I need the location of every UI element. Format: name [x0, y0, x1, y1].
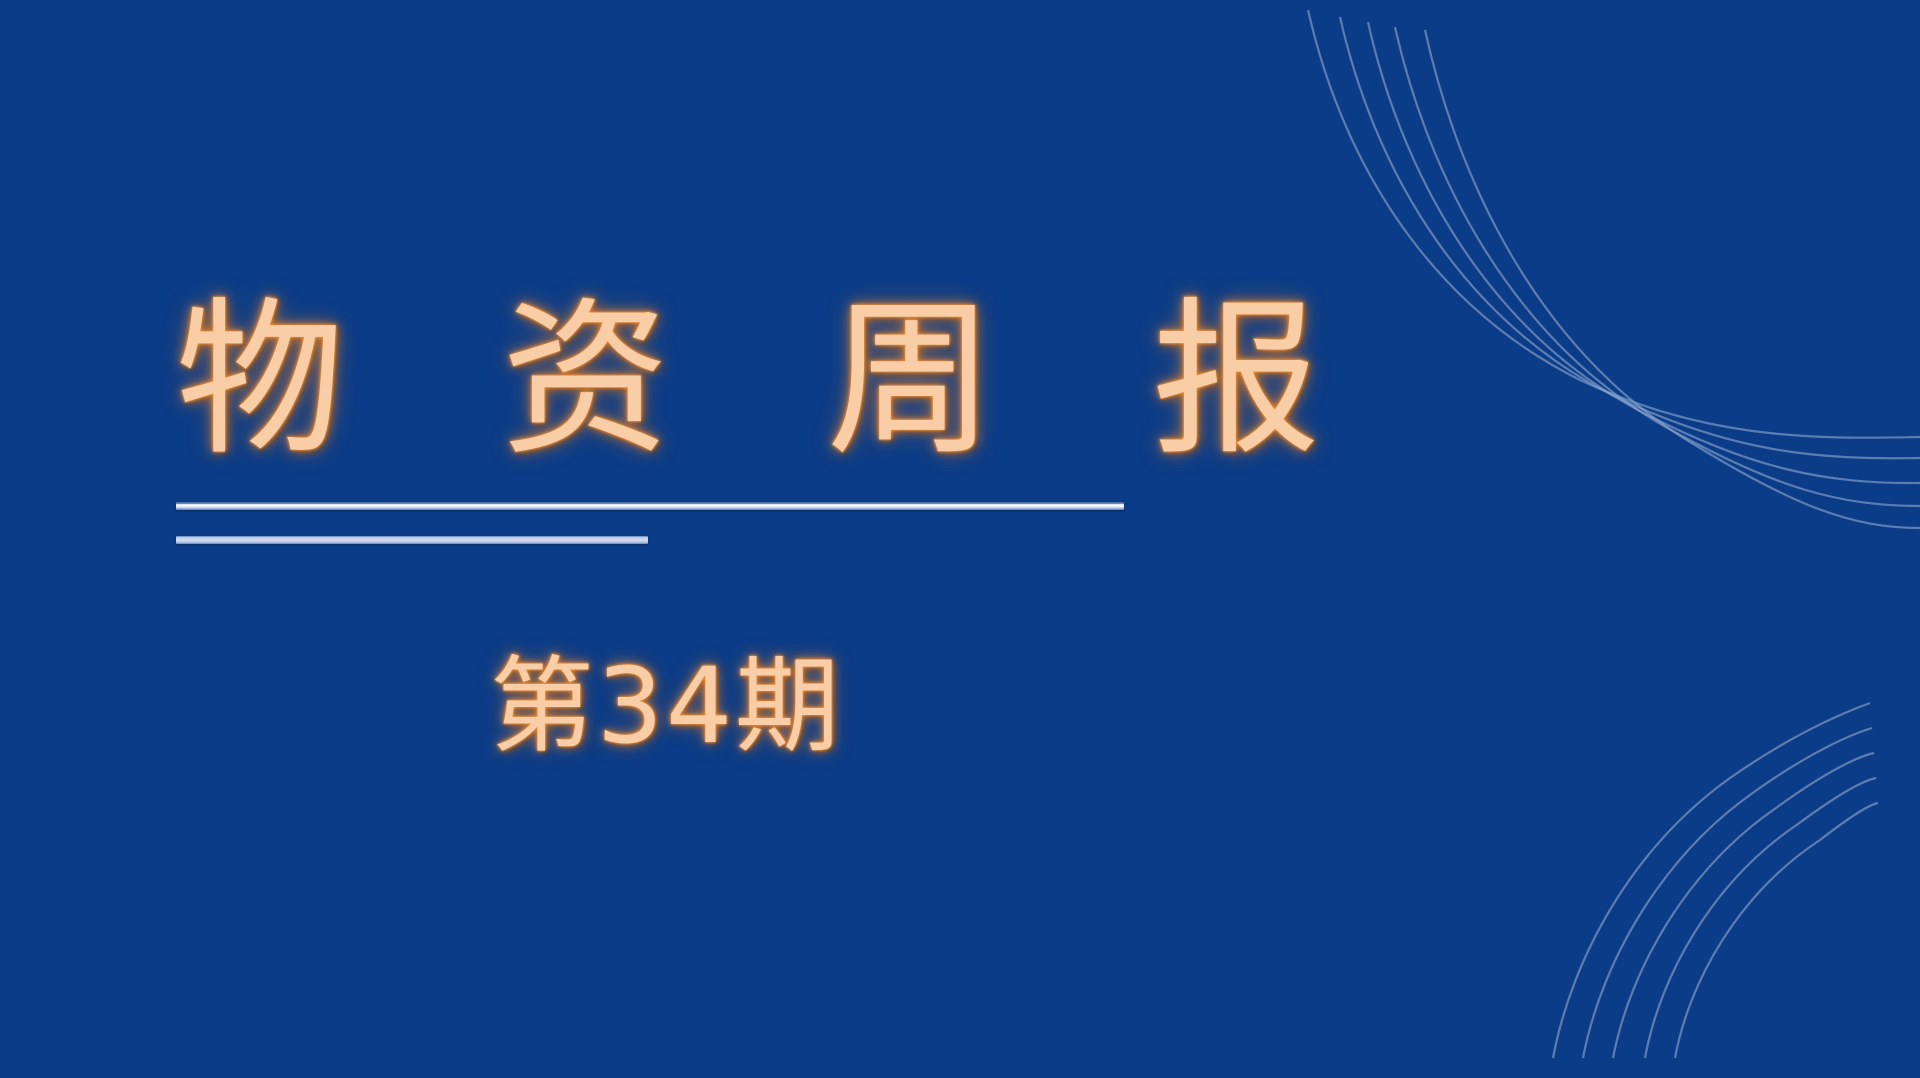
title-underline-short [176, 536, 648, 544]
subtitle-block: 第34期 [176, 648, 1156, 764]
deco-curve [1340, 17, 1920, 458]
curved-lines-bottom-right-decoration [1500, 658, 1920, 1078]
title-underline-group [176, 502, 1176, 544]
curve-lines-top-right-icon [1280, 0, 1920, 580]
deco-curve [1583, 728, 1872, 1058]
deco-curve [1425, 30, 1920, 528]
deco-curve [1675, 803, 1878, 1058]
deco-curve [1645, 778, 1876, 1058]
curve-lines-bottom-right-icon [1500, 658, 1920, 1078]
deco-curve [1613, 753, 1874, 1058]
page-title: 物 资 周 报 [176, 296, 1176, 464]
title-block: 物 资 周 报 [176, 296, 1176, 464]
deco-curve [1308, 10, 1920, 438]
deco-curve [1395, 27, 1920, 506]
deco-curve [1553, 703, 1870, 1058]
title-underline-long [176, 502, 1124, 510]
deco-curve [1368, 22, 1920, 483]
title-slide: 物 资 周 报 第34期 [0, 0, 1920, 1078]
issue-subtitle: 第34期 [176, 648, 1156, 764]
curved-lines-top-right-decoration [1280, 0, 1920, 580]
